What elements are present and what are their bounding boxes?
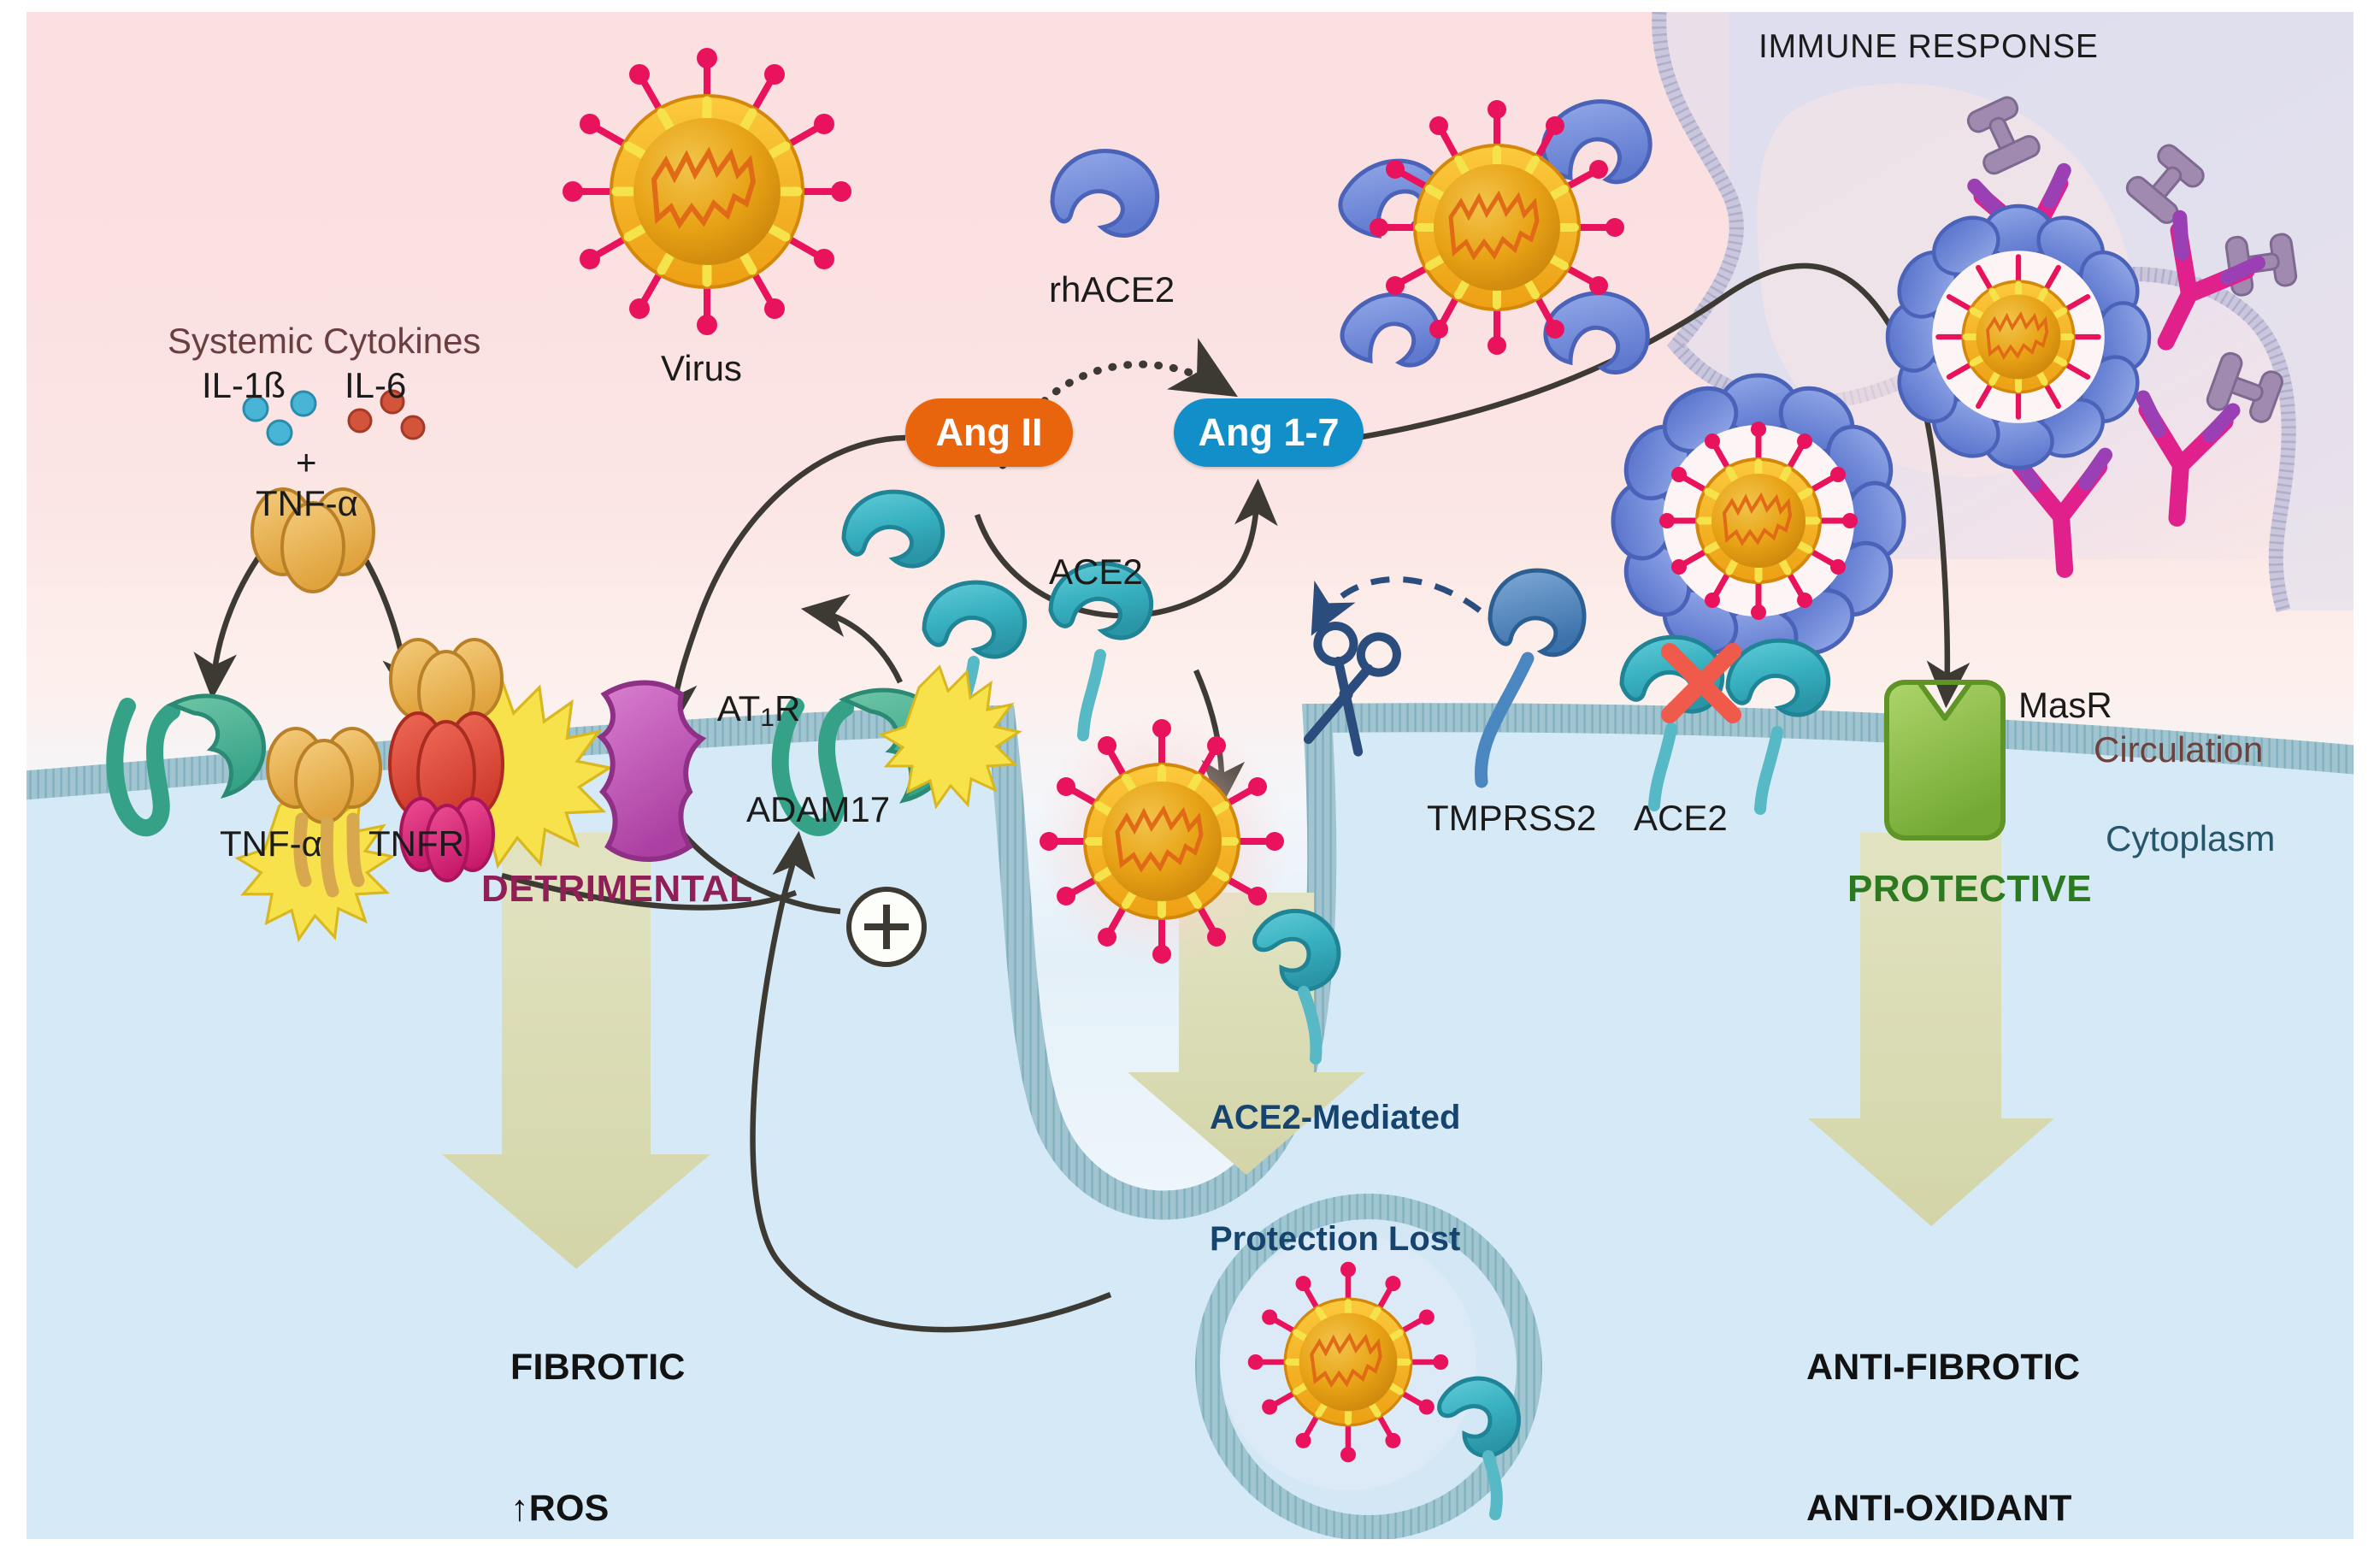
virus-label: Virus — [661, 347, 742, 390]
circulation-label: Circulation — [2094, 728, 2263, 771]
rhace2-blob — [1052, 151, 1158, 236]
at1r-suffix: R — [775, 688, 800, 728]
detrimental-item-1: ↑ROS — [510, 1485, 888, 1532]
detrimental-outcomes-list: FIBROTIC ↑ROS HYPERTROPHIC VASOCONSTRICT… — [510, 1250, 888, 1539]
ang2-label: Ang II — [936, 410, 1043, 455]
virus-particle-top-left — [563, 48, 851, 335]
ace2-protection-lost-label: ACE2-Mediated Protection Lost — [1210, 1017, 1460, 1341]
figure-canvas: Systemic Cytokines IL-1ß IL-6 + TNF-α Vi… — [0, 0, 2380, 1563]
cytokines-tnf-alpha-label: TNF-α — [256, 482, 358, 525]
cytokines-plus-sign: + — [296, 441, 317, 484]
adam17-label: ADAM17 — [746, 788, 890, 831]
tnfr-label: TNFR — [368, 823, 464, 865]
protective-outcomes-list: ANTI-FIBROTIC ANTI-OXIDANT ANTI-HYPERTRO… — [1806, 1250, 2200, 1539]
detrimental-item-0: FIBROTIC — [510, 1344, 888, 1391]
tmprss2-label: TMPRSS2 — [1427, 797, 1596, 840]
systemic-cytokines-heading: Systemic Cytokines — [168, 320, 480, 363]
at1r-label: AT1R — [659, 645, 800, 775]
shed-ace2-blob — [844, 492, 943, 566]
tmprss2-dashed-arrow — [1317, 579, 1480, 624]
ang2-pill[interactable]: Ang II — [905, 398, 1073, 467]
immune-response-label: IMMUNE RESPONSE — [1758, 27, 2099, 67]
tnf-alpha-membrane-label: TNF-α — [220, 823, 322, 865]
il1b-label: IL-1ß — [202, 364, 286, 407]
ace2-membrane-label: ACE2 — [1634, 797, 1728, 840]
ang17-label: Ang 1-7 — [1198, 410, 1339, 455]
at1r-prefix: AT — [717, 688, 761, 728]
at1r-subscript: 1 — [760, 704, 775, 732]
il6-label: IL-6 — [345, 364, 406, 407]
plus-circle-icon — [849, 889, 924, 964]
ace2-lost-line2: Protection Lost — [1210, 1219, 1460, 1259]
diagram-background: Systemic Cytokines IL-1ß IL-6 + TNF-α Vi… — [27, 12, 2353, 1539]
protective-arrow-label: PROTECTIVE — [1847, 867, 2092, 911]
virus-particle-with-antibody-blobs — [1340, 100, 1650, 373]
ace2-soluble-label: ACE2 — [1049, 551, 1143, 593]
rhace2-label: rhACE2 — [1049, 268, 1175, 311]
detrimental-arrow-label: DETRIMENTAL — [481, 867, 753, 911]
ang17-pill[interactable]: Ang 1-7 — [1174, 398, 1364, 467]
protective-item-1: ANTI-OXIDANT — [1806, 1485, 2200, 1532]
masr-label: MasR — [2018, 684, 2112, 727]
masr-receptor — [1887, 682, 2003, 838]
ace2-lost-line1: ACE2-Mediated — [1210, 1098, 1460, 1138]
protective-item-0: ANTI-FIBROTIC — [1806, 1344, 2200, 1391]
cytoplasm-label: Cytoplasm — [2106, 817, 2275, 860]
